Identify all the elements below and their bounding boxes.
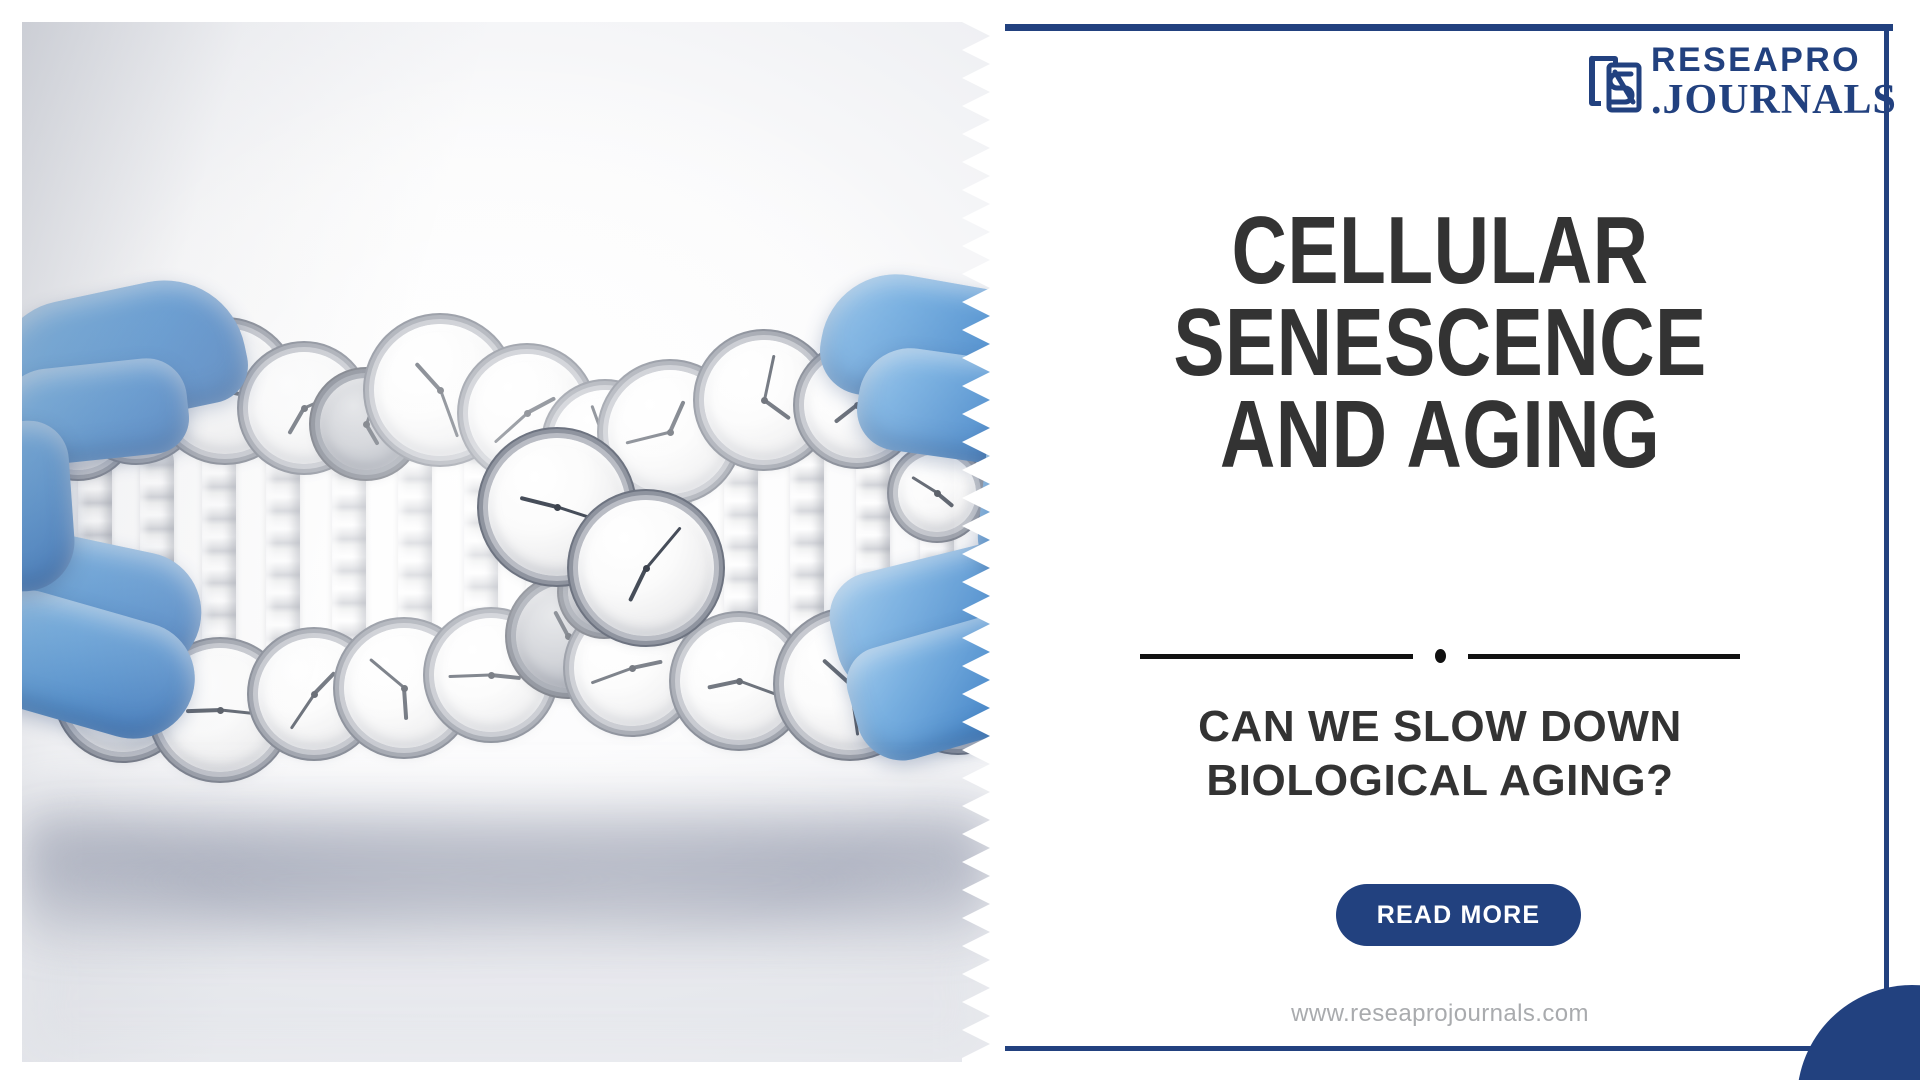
logo-primary-text: RESEAPRO	[1651, 41, 1861, 79]
logo-secondary-text: .JOURNALS	[1651, 77, 1897, 123]
website-url[interactable]: www.reseaprojournals.com	[1040, 1000, 1840, 1028]
page-subtitle-line-1: CAN WE SLOW DOWN	[1040, 700, 1840, 754]
hero-photo	[22, 22, 990, 1062]
frame-border-top	[1005, 24, 1893, 31]
clock-face	[578, 500, 714, 636]
page-subtitle: CAN WE SLOW DOWN BIOLOGICAL AGING?	[1040, 700, 1840, 808]
document-page-icon	[1585, 52, 1645, 114]
page-title-line-1: CELLULAR	[1120, 205, 1760, 297]
corner-arc-decoration	[1775, 955, 1920, 1080]
content-panel: RESEAPRO .JOURNALS CELLULAR SENESCENCE A…	[1000, 0, 1920, 1080]
ornamental-divider	[1140, 647, 1740, 665]
read-more-button[interactable]: READ MORE	[1336, 884, 1581, 946]
page-title-line-2: SENESCENCE	[1120, 297, 1760, 389]
brand-logo-text: RESEAPRO .JOURNALS	[1651, 42, 1887, 122]
frame-border-bottom	[1005, 1046, 1893, 1051]
divider-dot-icon	[1435, 649, 1446, 663]
poster-canvas: RESEAPRO .JOURNALS CELLULAR SENESCENCE A…	[0, 0, 1920, 1080]
divider-rule-right	[1468, 654, 1741, 659]
page-title-line-3: AND AGING	[1120, 389, 1760, 481]
brand-logo[interactable]: RESEAPRO .JOURNALS	[1585, 42, 1885, 132]
divider-rule-left	[1140, 654, 1413, 659]
page-subtitle-line-2: BIOLOGICAL AGING?	[1040, 754, 1840, 808]
page-title: CELLULAR SENESCENCE AND AGING	[1120, 205, 1760, 481]
frame-border-right	[1884, 24, 1889, 1050]
